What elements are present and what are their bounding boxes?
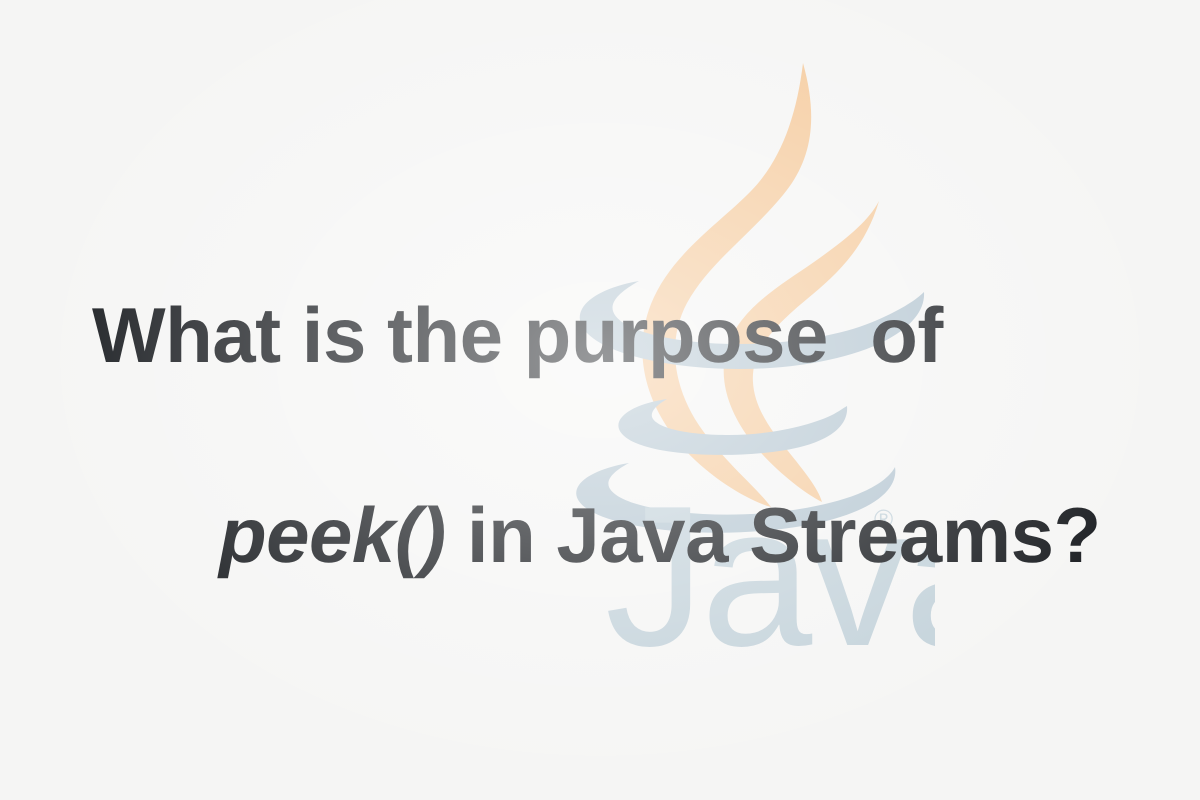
headline-line-2: peek() in Java Streams? <box>92 386 992 685</box>
headline-method-name: peek() <box>219 491 446 579</box>
headline: What is the purpose of peek() in Java St… <box>92 286 992 685</box>
headline-line-2-rest: in Java Streams? <box>446 491 1101 579</box>
slide-canvas: Java ® What is the purpose of peek() in … <box>0 0 1200 800</box>
headline-line-1: What is the purpose of <box>92 286 992 386</box>
